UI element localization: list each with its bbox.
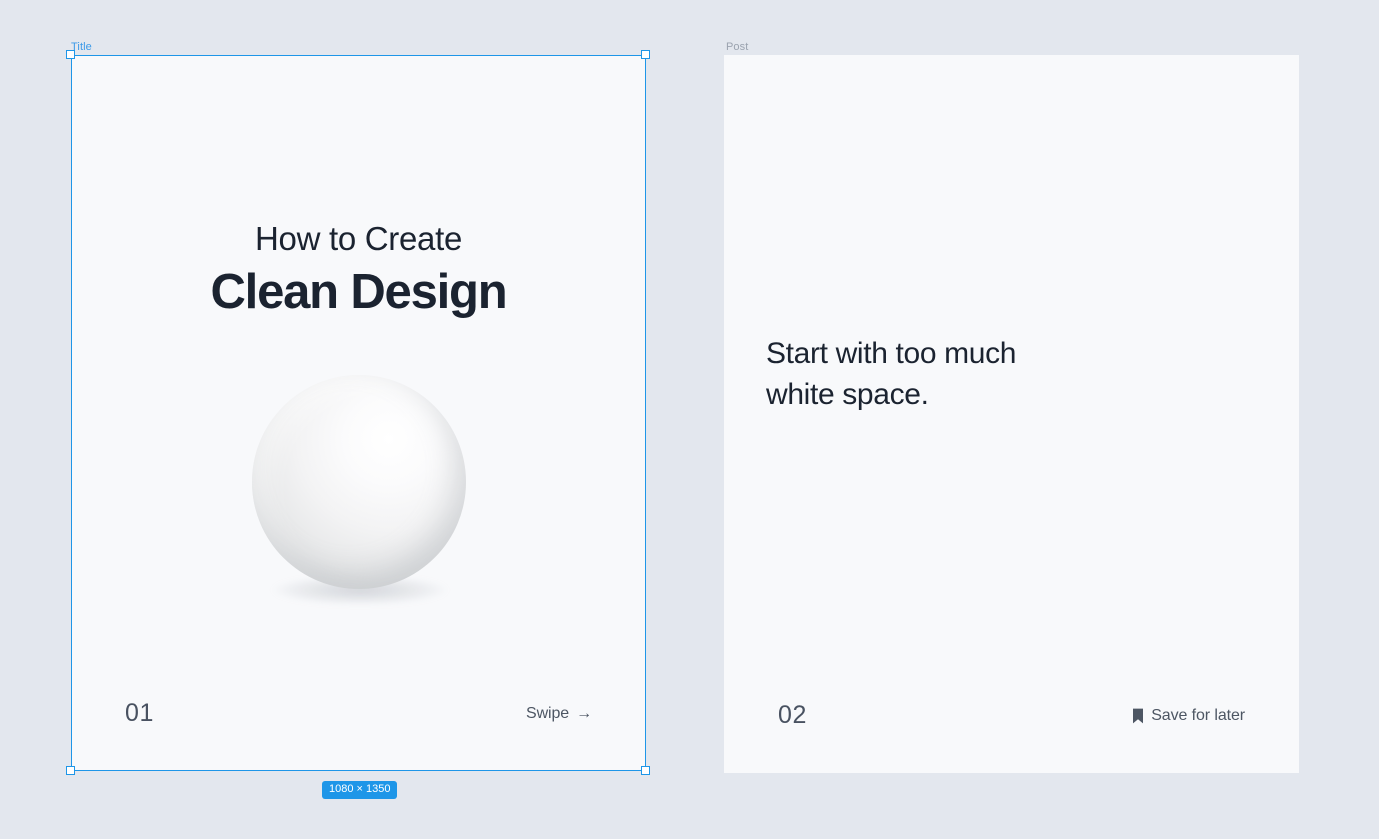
headline: How to Create Clean Design — [71, 218, 646, 321]
slide-number: 02 — [778, 702, 807, 729]
arrow-right-icon: → — [576, 706, 592, 722]
card-footer-title: 01 Swipe → — [125, 700, 592, 727]
resize-handle-top-left[interactable] — [66, 50, 75, 59]
design-canvas[interactable]: Title How to Create Clean Design 01 Swip… — [0, 0, 1379, 839]
frame-title[interactable]: How to Create Clean Design 01 Swipe → — [71, 55, 646, 771]
body-copy: Start with too much white space. — [766, 333, 1257, 415]
resize-handle-bottom-left[interactable] — [66, 766, 75, 775]
card-footer-post: 02 Save for later — [778, 702, 1245, 729]
resize-handle-top-right[interactable] — [641, 50, 650, 59]
slide-number: 01 — [125, 700, 154, 727]
resize-handle-bottom-right[interactable] — [641, 766, 650, 775]
frame-label-post[interactable]: Post — [726, 42, 748, 53]
headline-line-2: Clean Design — [71, 263, 646, 321]
swipe-label: Swipe — [526, 704, 569, 724]
bookmark-icon — [1132, 708, 1144, 724]
headline-line-1: How to Create — [71, 218, 646, 260]
save-for-later-label: Save for later — [1151, 706, 1245, 726]
sphere-graphic — [244, 375, 474, 635]
save-for-later-action[interactable]: Save for later — [1132, 706, 1245, 726]
frame-post[interactable]: Start with too much white space. 02 Save… — [724, 55, 1299, 773]
body-copy-line-2: white space. — [766, 374, 1257, 415]
sphere-icon — [252, 375, 466, 589]
dimension-badge: 1080 × 1350 — [322, 781, 397, 799]
body-copy-line-1: Start with too much — [766, 333, 1257, 374]
swipe-action[interactable]: Swipe → — [526, 704, 592, 724]
